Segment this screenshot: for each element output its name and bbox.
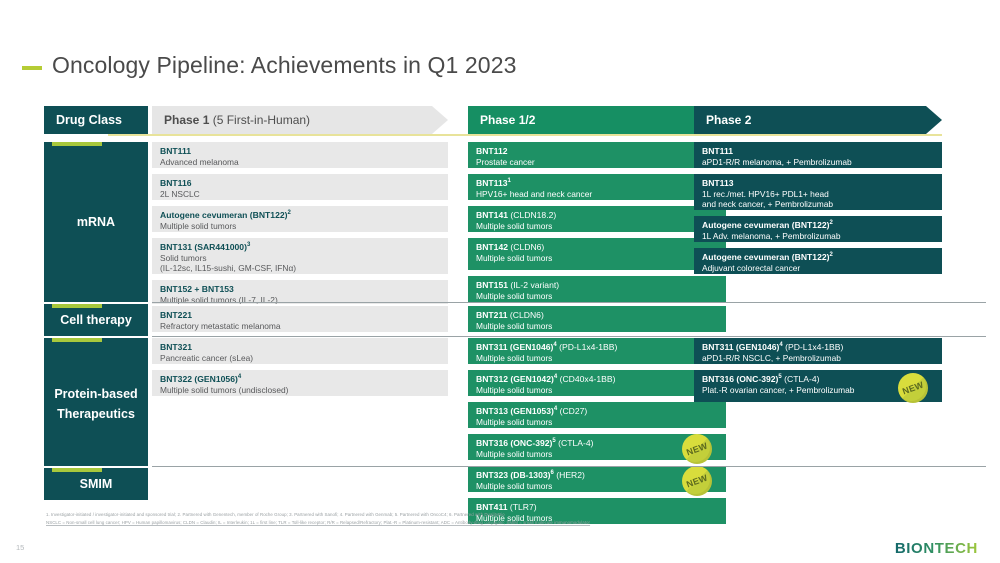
footnote-marker: 2 [830,220,833,226]
pipeline-entry[interactable]: BNT313 (GEN1053)4 (CD27)Multiple solid t… [468,402,726,428]
pipeline-entry-indication: Pancreatic cancer (sLea) [160,353,440,363]
drug-class-protein-based-therapeutics: Protein-based Therapeutics [44,338,148,466]
pipeline-entry-indication: Refractory metastatic melanoma [160,321,440,331]
slide: Oncology Pipeline: Achievements in Q1 20… [0,0,1000,563]
header-phase2-label: Phase 2 [706,113,751,127]
pipeline-entry-indication: Adjuvant colorectal cancer [702,263,934,273]
drug-class-smim: SMIM [44,468,148,500]
pipeline-entry[interactable]: BNT221Refractory metastatic melanoma [152,306,448,332]
pipeline-entry-target: (PD-L1x4-1BB) [783,342,844,352]
pipeline-entry-title: BNT321 [160,342,440,353]
pipeline-entry[interactable]: BNT111aPD1-R/R melanoma, + Pembrolizumab [694,142,942,168]
footnote-marker: 2 [288,210,291,216]
column-phase1: Phase 1 (5 First-in-Human) [152,106,448,134]
pipeline-entry-title: BNT313 (GEN1053)4 (CD27) [476,406,718,417]
pipeline-entry-title: BNT1131 [476,178,718,189]
pipeline-entry[interactable]: BNT1131L rec./met. HPV16+ PDL1+ headand … [694,174,942,210]
pipeline-entry[interactable]: BNT1162L NSCLC [152,174,448,200]
pipeline-entry-indication: Multiple solid tumors [476,253,718,263]
pipeline-entry-title: BNT221 [160,310,440,321]
title-text: Oncology Pipeline: Achievements in Q1 20… [52,52,516,79]
pipeline-entry-indication: Multiple solid tumors [476,417,718,427]
pipeline-entry-title: BNT141 (CLDN18.2) [476,210,718,221]
pipeline-entry-title: BNT111 [702,146,934,157]
header-drug-class: Drug Class [44,106,148,134]
pipeline-entry[interactable]: BNT321Pancreatic cancer (sLea) [152,338,448,364]
drug-class-cell-therapy-label: Cell therapy [44,310,148,330]
pipeline-entry-target: (CLDN18.2) [508,210,556,220]
pipeline-entry[interactable]: BNT112Prostate cancer [468,142,726,168]
pipeline-entry-indication: 2L NSCLC [160,189,440,199]
pipeline-entry-indication: Solid tumors [160,253,440,263]
footnote-marker: 2 [830,252,833,258]
pipeline-entry-indication: HPV16+ head and neck cancer [476,189,718,199]
pipeline-entry-indication: Multiple solid tumors [476,291,718,301]
band-separator [152,336,986,337]
header-phase1-label: Phase 1 [164,113,209,127]
band-separator [152,302,986,303]
pipeline-entry-title: BNT322 (GEN1056)4 [160,374,440,385]
pipeline-entry-title: Autogene cevumeran (BNT122)2 [702,220,934,231]
pipeline-entry[interactable]: BNT141 (CLDN18.2)Multiple solid tumors [468,206,726,232]
pipeline-entry-indication: Multiple solid tumors [476,385,718,395]
drug-class-tick [52,338,102,342]
pipeline-entry[interactable]: BNT131 (SAR441000)3Solid tumors(IL-12sc,… [152,238,448,274]
pipeline-entry-target: (CLDN6) [508,310,544,320]
header-phase2: Phase 2 [694,106,942,134]
footnote-abbreviations: NSCLC = Non-small cell lung cancer; HPV … [46,519,590,526]
header-underline-rule [108,134,942,136]
footnote-marker: 4 [238,374,241,380]
pipeline-entry-indication: Multiple solid tumors [476,353,718,363]
footnote-marker: 3 [247,242,250,248]
band-separator [152,466,986,467]
pipeline-entry-target: (CTLA-4) [556,438,594,448]
header-phase12-label: Phase 1/2 [480,113,535,127]
pipeline-entry-target: (CTLA-4) [782,374,820,384]
pipeline-entry-target: (IL-2 variant) [508,280,559,290]
new-badge: NEW [682,466,712,496]
pipeline-entry-title: BNT142 (CLDN6) [476,242,718,253]
pipeline-entry-indication: 1L Adv. melanoma, + Pembrolizumab [702,231,934,241]
pipeline-entry-title: BNT411 (TLR7) [476,502,718,513]
pipeline-entry[interactable]: Autogene cevumeran (BNT122)2Multiple sol… [152,206,448,232]
drug-class-tick [52,304,102,308]
page-number: 15 [16,543,24,552]
header-drug-class-label: Drug Class [56,113,122,127]
pipeline-entry-target: (TLR7) [508,502,537,512]
pipeline-entry-title: BNT152 + BNT153 [160,284,440,295]
pipeline-entry-title: BNT312 (GEN1042)4 (CD40x4-1BB) [476,374,718,385]
pipeline-entry-indication: Multiple solid tumors (undisclosed) [160,385,440,395]
column-phase12: Phase 1/2 [468,106,726,134]
drug-class-protein-label-line2: Therapeutics [44,404,148,424]
header-phase1-note: (5 First-in-Human) [209,113,310,127]
pipeline-entry[interactable]: BNT312 (GEN1042)4 (CD40x4-1BB)Multiple s… [468,370,726,396]
pipeline-entry[interactable]: BNT152 + BNT153Multiple solid tumors (IL… [152,280,448,304]
new-badge: NEW [898,373,928,403]
biontech-logo: BIONTECH [895,540,978,557]
pipeline-entry-target: (CD40x4-1BB) [557,374,615,384]
drug-class-protein-label-line1: Protein-based [44,384,148,404]
pipeline-entry-title: BNT113 [702,178,934,189]
pipeline-entry-target: (PD-L1x4-1BB) [557,342,618,352]
new-badge: NEW [682,434,712,464]
column-phase2: Phase 2 [694,106,942,134]
pipeline-entry[interactable]: BNT311 (GEN1046)4 (PD-L1x4-1BB)aPD1-R/R … [694,338,942,364]
pipeline-entry-title: BNT131 (SAR441000)3 [160,242,440,253]
pipeline-entry-target: (CLDN6) [508,242,544,252]
pipeline-entry-title: BNT311 (GEN1046)4 (PD-L1x4-1BB) [476,342,718,353]
pipeline-entry[interactable]: BNT211 (CLDN6)Multiple solid tumors [468,306,726,332]
pipeline-entry-indication: Multiple solid tumors [160,221,440,231]
pipeline-entry-indication: Multiple solid tumors [476,321,718,331]
drug-class-mrna: mRNA [44,142,148,302]
pipeline-entry[interactable]: BNT311 (GEN1046)4 (PD-L1x4-1BB)Multiple … [468,338,726,364]
pipeline-entry-title: Autogene cevumeran (BNT122)2 [160,210,440,221]
pipeline-entry-indication: (IL-12sc, IL15-sushi, GM-CSF, IFNα) [160,263,440,273]
pipeline-entry[interactable]: BNT322 (GEN1056)4Multiple solid tumors (… [152,370,448,396]
pipeline-entry-indication: Prostate cancer [476,157,718,167]
drug-class-smim-label: SMIM [44,474,148,494]
drug-class-tick [52,468,102,472]
pipeline-entry-indication: 1L rec./met. HPV16+ PDL1+ head [702,189,934,199]
pipeline-entry-title: BNT151 (IL-2 variant) [476,280,718,291]
title-accent-dash [22,66,42,70]
pipeline-entry[interactable]: BNT142 (CLDN6)Multiple solid tumors [468,238,726,270]
pipeline-entry-title: BNT311 (GEN1046)4 (PD-L1x4-1BB) [702,342,934,353]
pipeline-entry[interactable]: Autogene cevumeran (BNT122)2Adjuvant col… [694,248,942,274]
pipeline-entry-title: BNT211 (CLDN6) [476,310,718,321]
pipeline-entry-target: (CD27) [557,406,587,416]
pipeline-entry-indication: and neck cancer, + Pembrolizumab [702,199,934,209]
footnote-partnerships: 1. Investigator-initiated / investigator… [46,511,505,518]
page-title: Oncology Pipeline: Achievements in Q1 20… [22,52,516,79]
pipeline-entry[interactable]: BNT1131HPV16+ head and neck cancer [468,174,726,200]
pipeline-entry-indication: Multiple solid tumors [476,221,718,231]
footnote-marker: 1 [508,178,511,184]
pipeline-entry-indication: aPD1-R/R NSCLC, + Pembrolizumab [702,353,934,363]
drug-class-tick [52,142,102,146]
pipeline-entry[interactable]: Autogene cevumeran (BNT122)21L Adv. mela… [694,216,942,242]
header-phase12: Phase 1/2 [468,106,726,134]
drug-class-cell-therapy: Cell therapy [44,304,148,336]
pipeline-chart: Drug Class Phase 1 (5 First-in-Human) Ph… [44,106,942,498]
drug-class-mrna-label: mRNA [44,212,148,232]
header-phase1: Phase 1 (5 First-in-Human) [152,106,448,134]
pipeline-entry-indication: aPD1-R/R melanoma, + Pembrolizumab [702,157,934,167]
pipeline-entry-title: BNT112 [476,146,718,157]
pipeline-entry[interactable]: BNT111Advanced melanoma [152,142,448,168]
pipeline-entry-indication: Advanced melanoma [160,157,440,167]
pipeline-entry-title: Autogene cevumeran (BNT122)2 [702,252,934,263]
pipeline-entry-title: BNT111 [160,146,440,157]
pipeline-entry-title: BNT116 [160,178,440,189]
pipeline-entry[interactable]: BNT151 (IL-2 variant)Multiple solid tumo… [468,276,726,302]
pipeline-entry-target: (HER2) [554,470,585,480]
